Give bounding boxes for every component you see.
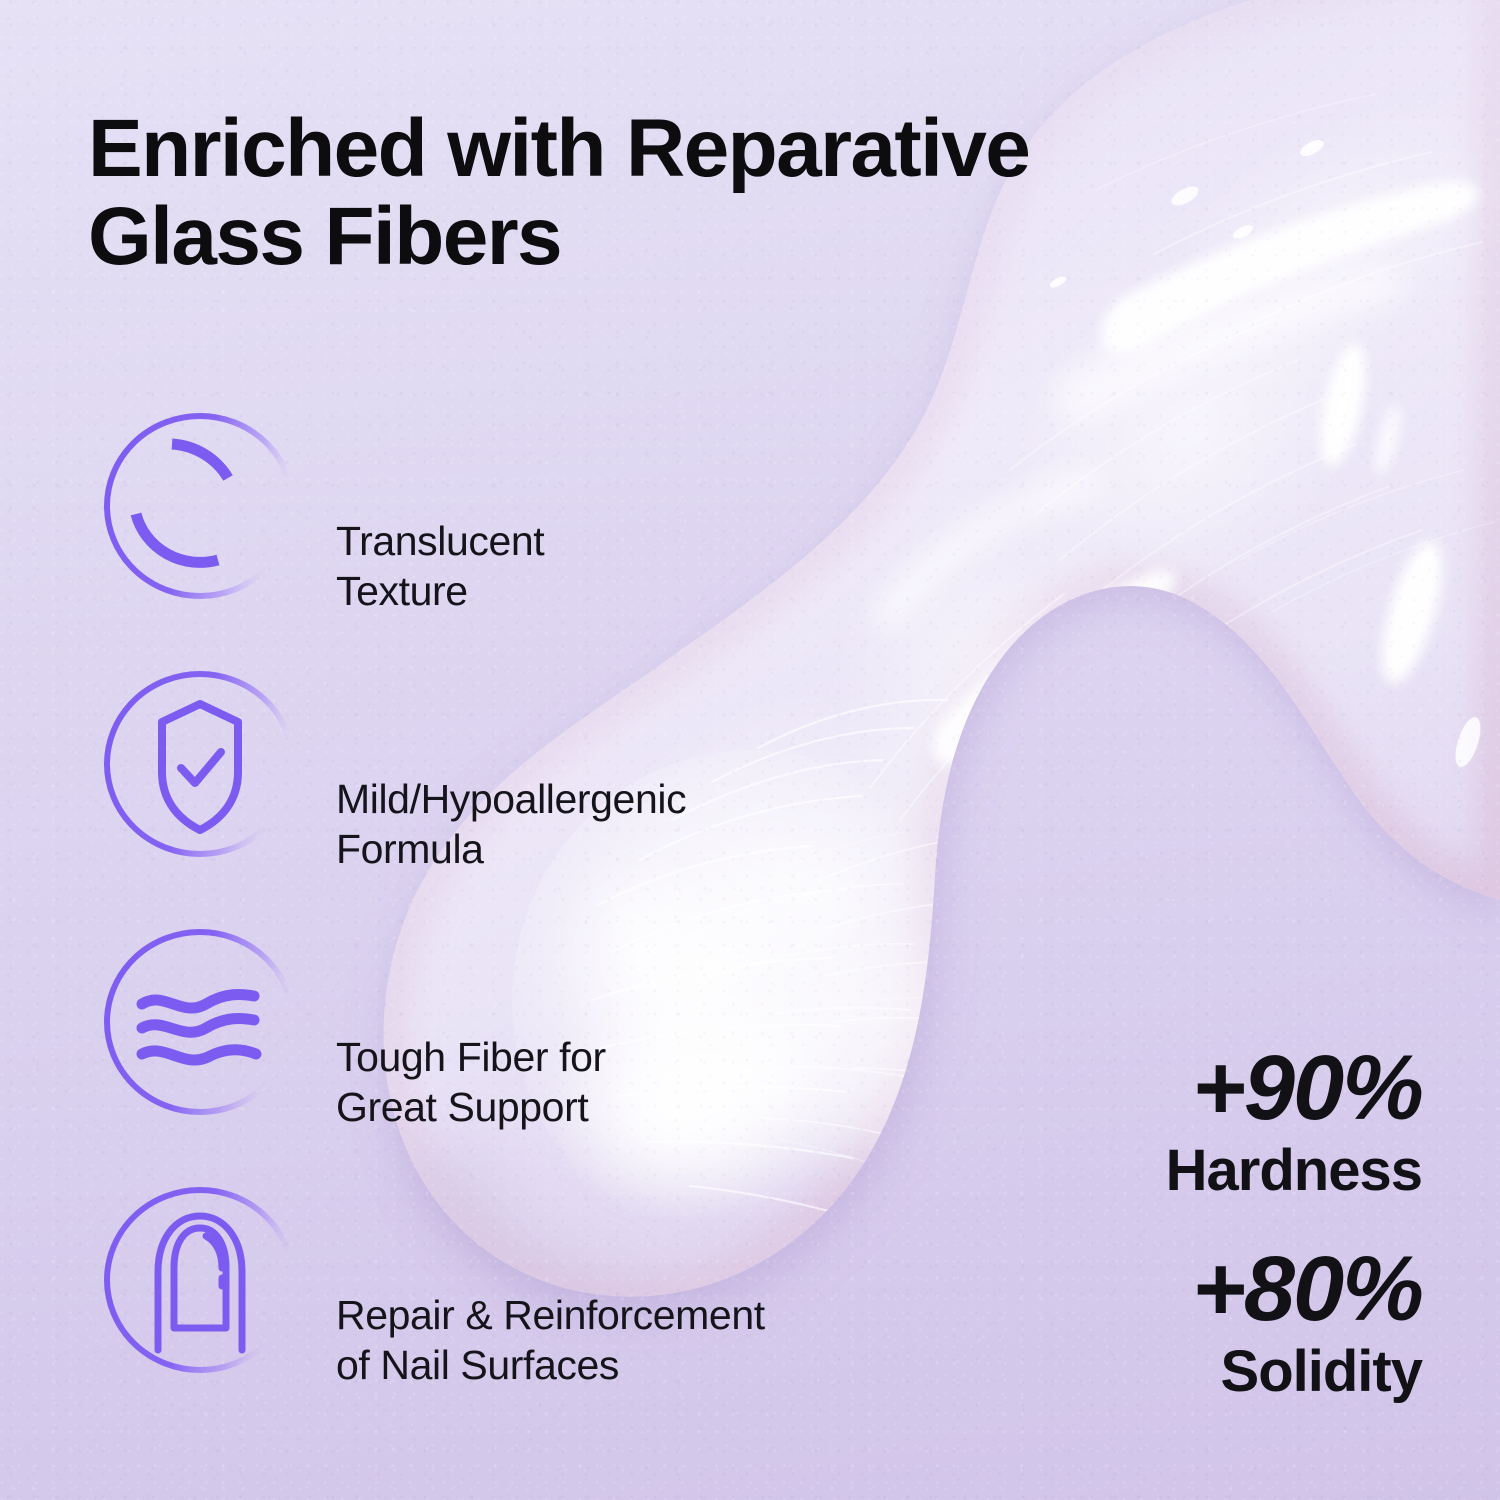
stat-hardness: +90% Hardness (1166, 1042, 1422, 1205)
translucent-circle-icon (96, 406, 304, 606)
infographic-canvas: Enriched with Reparative Glass Fibers (0, 0, 1500, 1500)
stat-label: Hardness (1166, 1138, 1422, 1205)
page-title: Enriched with Reparative Glass Fibers (88, 105, 1268, 280)
feature-list: Translucent Texture (88, 398, 788, 1430)
fingernail-icon (96, 1180, 304, 1380)
feature-item-translucent-texture: Translucent Texture (88, 398, 788, 656)
feature-item-tough-fiber: Tough Fiber for Great Support (88, 914, 788, 1172)
stat-solidity: +80% Solidity (1166, 1243, 1422, 1406)
shield-check-icon (96, 664, 304, 864)
stats-block: +90% Hardness +80% Solidity (1166, 1042, 1422, 1405)
stat-value: +90% (1166, 1042, 1422, 1134)
feature-label: Tough Fiber for Great Support (336, 1032, 606, 1132)
stat-label: Solidity (1166, 1339, 1422, 1406)
feature-label: Repair & Reinforcement of Nail Surfaces (336, 1290, 765, 1390)
feature-label: Mild/Hypoallergenic Formula (336, 774, 686, 874)
fiber-waves-icon (96, 922, 304, 1122)
feature-label: Translucent Texture (336, 516, 544, 616)
stat-value: +80% (1166, 1243, 1422, 1335)
feature-item-hypoallergenic-formula: Mild/Hypoallergenic Formula (88, 656, 788, 914)
feature-item-repair-reinforcement: Repair & Reinforcement of Nail Surfaces (88, 1172, 788, 1430)
